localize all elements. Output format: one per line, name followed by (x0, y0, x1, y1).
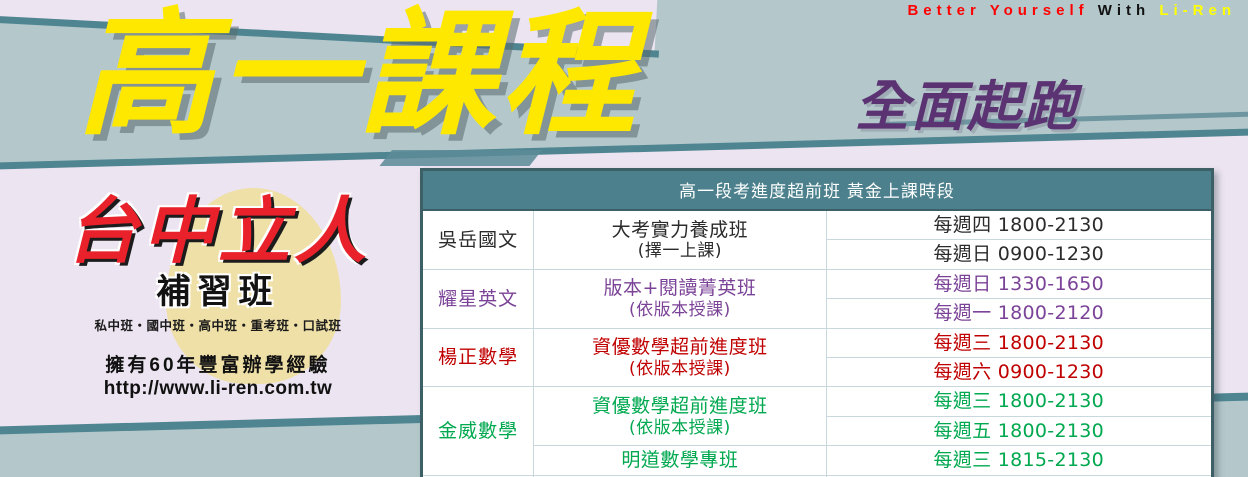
cell-course-note: (依版本授課) (538, 418, 821, 438)
schedule-table: 高一段考進度超前班 黃金上課時段 吳岳國文大考實力養成班(擇一上課)每週四 18… (423, 171, 1211, 477)
logo-website-url: http://www.li-ren.com.tw (38, 378, 398, 400)
cell-teacher: 金威數學 (423, 387, 534, 475)
table-header-row: 高一段考進度超前班 黃金上課時段 (423, 171, 1211, 210)
cell-course-note: (擇一上課) (538, 241, 821, 261)
cell-time: 每週三 1800-2130 (826, 328, 1211, 357)
schedule-header-title: 高一段考進度超前班 黃金上課時段 (423, 171, 1211, 210)
cell-time: 每週日 1330-1650 (826, 269, 1211, 298)
logo-cram-school: 補習班 (38, 264, 398, 313)
cell-time: 每週五 1800-2130 (826, 416, 1211, 445)
table-row: 明道數學專班每週三 1815-2130 (423, 446, 1211, 475)
cell-course: 明道數學專班 (534, 446, 826, 475)
tagline-red: Better Yourself (907, 2, 1088, 19)
schedule-body: 吳岳國文大考實力養成班(擇一上課)每週四 1800-2130每週日 0900-1… (423, 210, 1211, 477)
logo-brand-name: 台中立人 (38, 192, 398, 270)
table-row: 楊正數學資優數學超前進度班(依版本授課)每週三 1800-2130 (423, 328, 1211, 357)
cell-time: 每週日 0900-1230 (826, 240, 1211, 269)
table-row: 吳岳國文大考實力養成班(擇一上課)每週四 1800-2130 (423, 210, 1211, 240)
cell-time: 每週三 1815-2130 (826, 446, 1211, 475)
table-row: 耀星英文版本+閱讀菁英班(依版本授課)每週日 1330-1650 (423, 269, 1211, 298)
tagline-yellow: Li-Ren (1159, 2, 1236, 19)
page-title: 高一課程 (78, 6, 642, 144)
tagline-black: With (1098, 2, 1150, 19)
cell-teacher: 耀星英文 (423, 269, 534, 328)
cell-time: 每週四 1800-2130 (826, 210, 1211, 240)
cell-time: 每週一 1800-2120 (826, 299, 1211, 328)
logo-experience: 擁有60年豐富辦學經驗 (38, 350, 398, 377)
schedule-table-container: 高一段考進度超前班 黃金上課時段 吳岳國文大考實力養成班(擇一上課)每週四 18… (420, 168, 1214, 477)
cell-time: 每週六 0900-1230 (826, 358, 1211, 387)
page-subtitle: 全面起跑 (855, 62, 1079, 141)
cell-course-note: (依版本授課) (538, 359, 821, 379)
cell-course: 資優數學超前進度班(依版本授課) (534, 328, 826, 387)
tagline: Better Yourself With Li-Ren (907, 2, 1236, 19)
logo: 台中立人 補習班 私中班・國中班・高中班・重考班・口試班 擁有60年豐富辦學經驗… (38, 192, 398, 400)
logo-class-list: 私中班・國中班・高中班・重考班・口試班 (38, 315, 398, 334)
cell-course: 資優數學超前進度班(依版本授課) (534, 387, 826, 446)
cell-time: 每週三 1800-2130 (826, 387, 1211, 416)
cell-teacher: 楊正數學 (423, 328, 534, 387)
banner-canvas: Better Yourself With Li-Ren 高一課程 全面起跑 台中… (0, 0, 1248, 477)
table-row: 金威數學資優數學超前進度班(依版本授課)每週三 1800-2130 (423, 387, 1211, 416)
cell-course: 版本+閱讀菁英班(依版本授課) (534, 269, 826, 328)
cell-course: 大考實力養成班(擇一上課) (534, 210, 826, 269)
cell-course-note: (依版本授課) (538, 300, 821, 320)
cell-teacher: 吳岳國文 (423, 210, 534, 269)
